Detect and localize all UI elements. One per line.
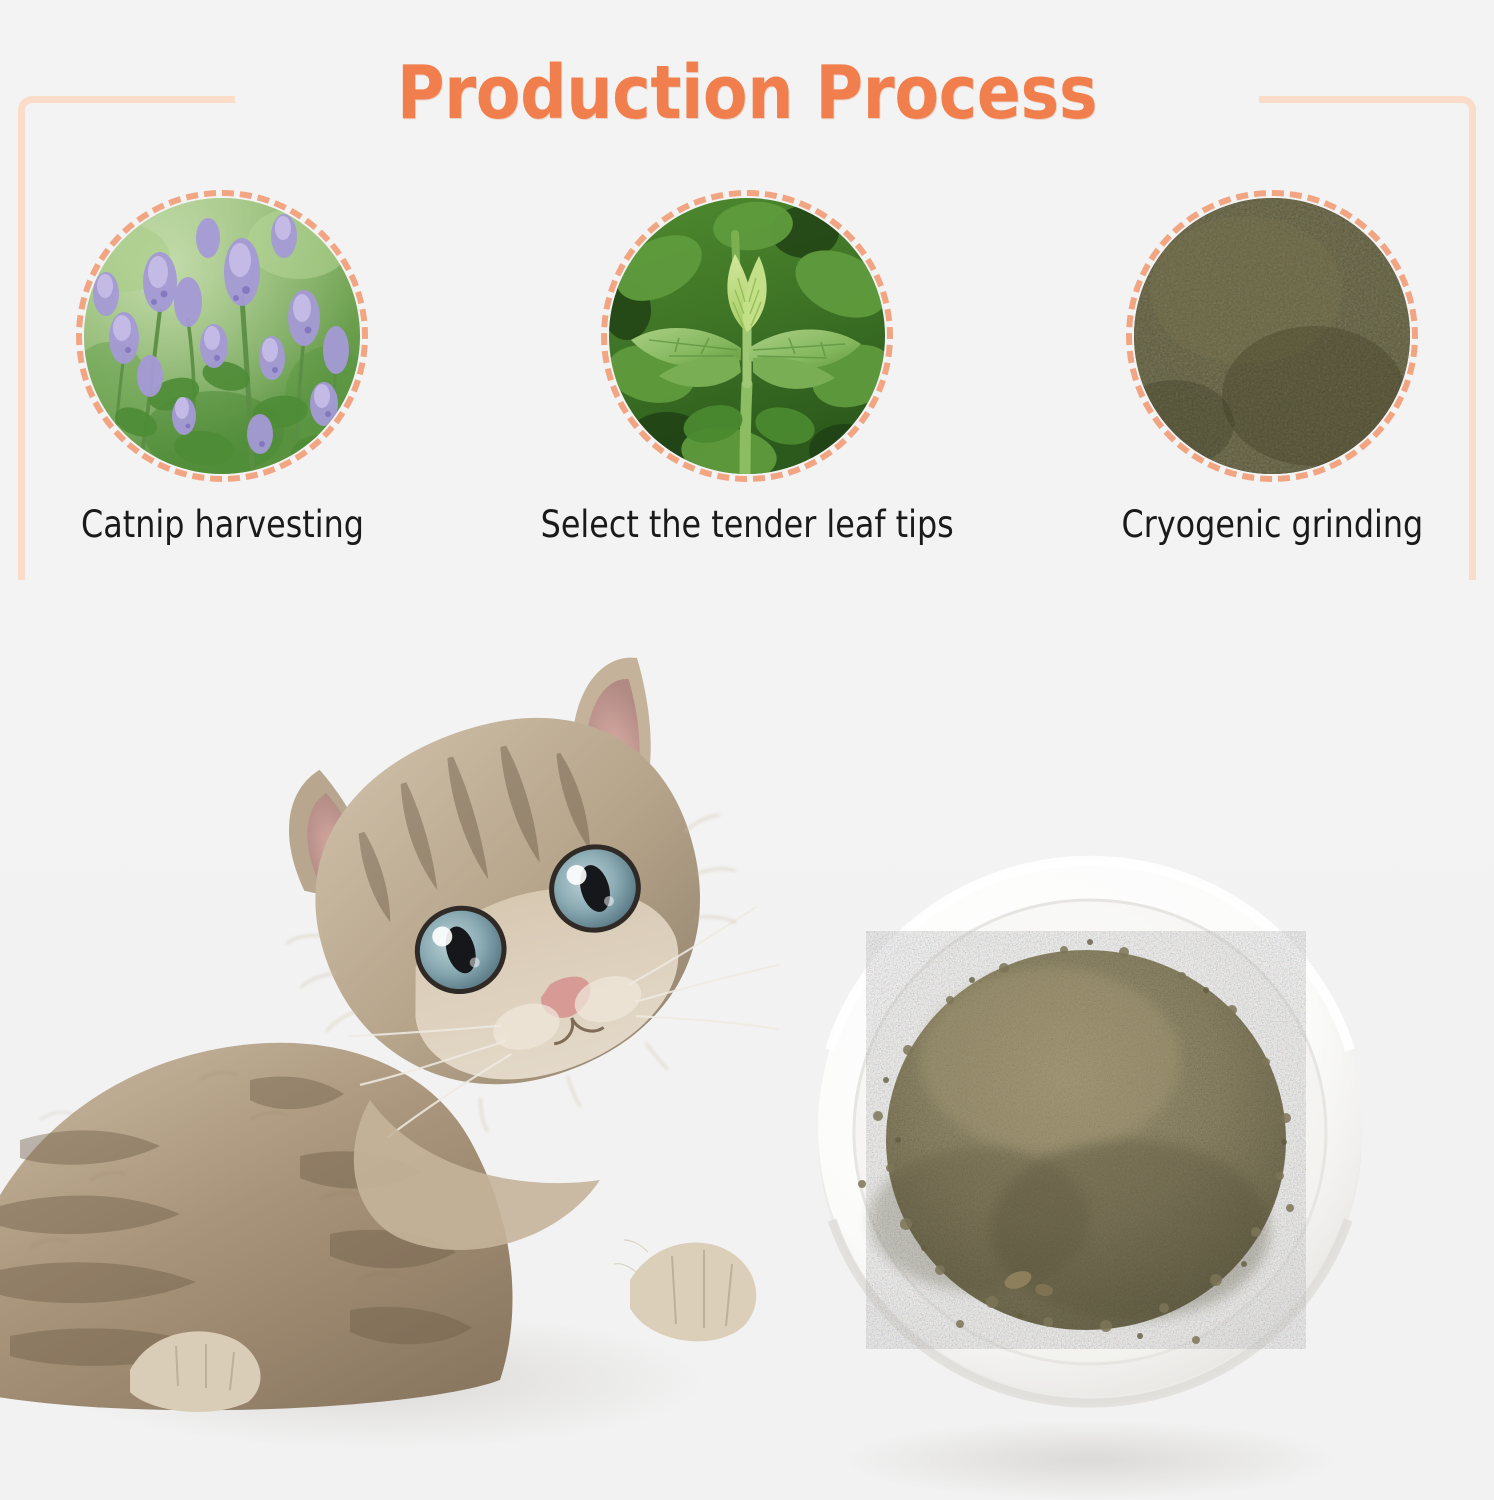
step-3-caption: Cryogenic grinding [1121,504,1423,547]
process-step-3: Cryogenic grinding [1122,190,1422,547]
infographic-page: Production Process [0,0,1494,1500]
step-2-circle [601,190,893,482]
step-2-caption: Select the tender leaf tips [540,504,953,547]
step-1-caption: Catnip harvesting [81,504,364,547]
step-3-circle [1126,190,1418,482]
step-3-dashed-ring-icon [1126,190,1418,482]
page-title: Production Process [90,56,1405,130]
hero-photo-area [0,580,1494,1500]
step-1-circle [76,190,368,482]
process-step-2: Select the tender leaf tips [597,190,897,547]
process-step-1: Catnip harvesting [72,190,372,547]
process-steps: Catnip harvesting [0,190,1494,547]
step-2-dashed-ring-icon [601,190,893,482]
step-1-dashed-ring-icon [76,190,368,482]
